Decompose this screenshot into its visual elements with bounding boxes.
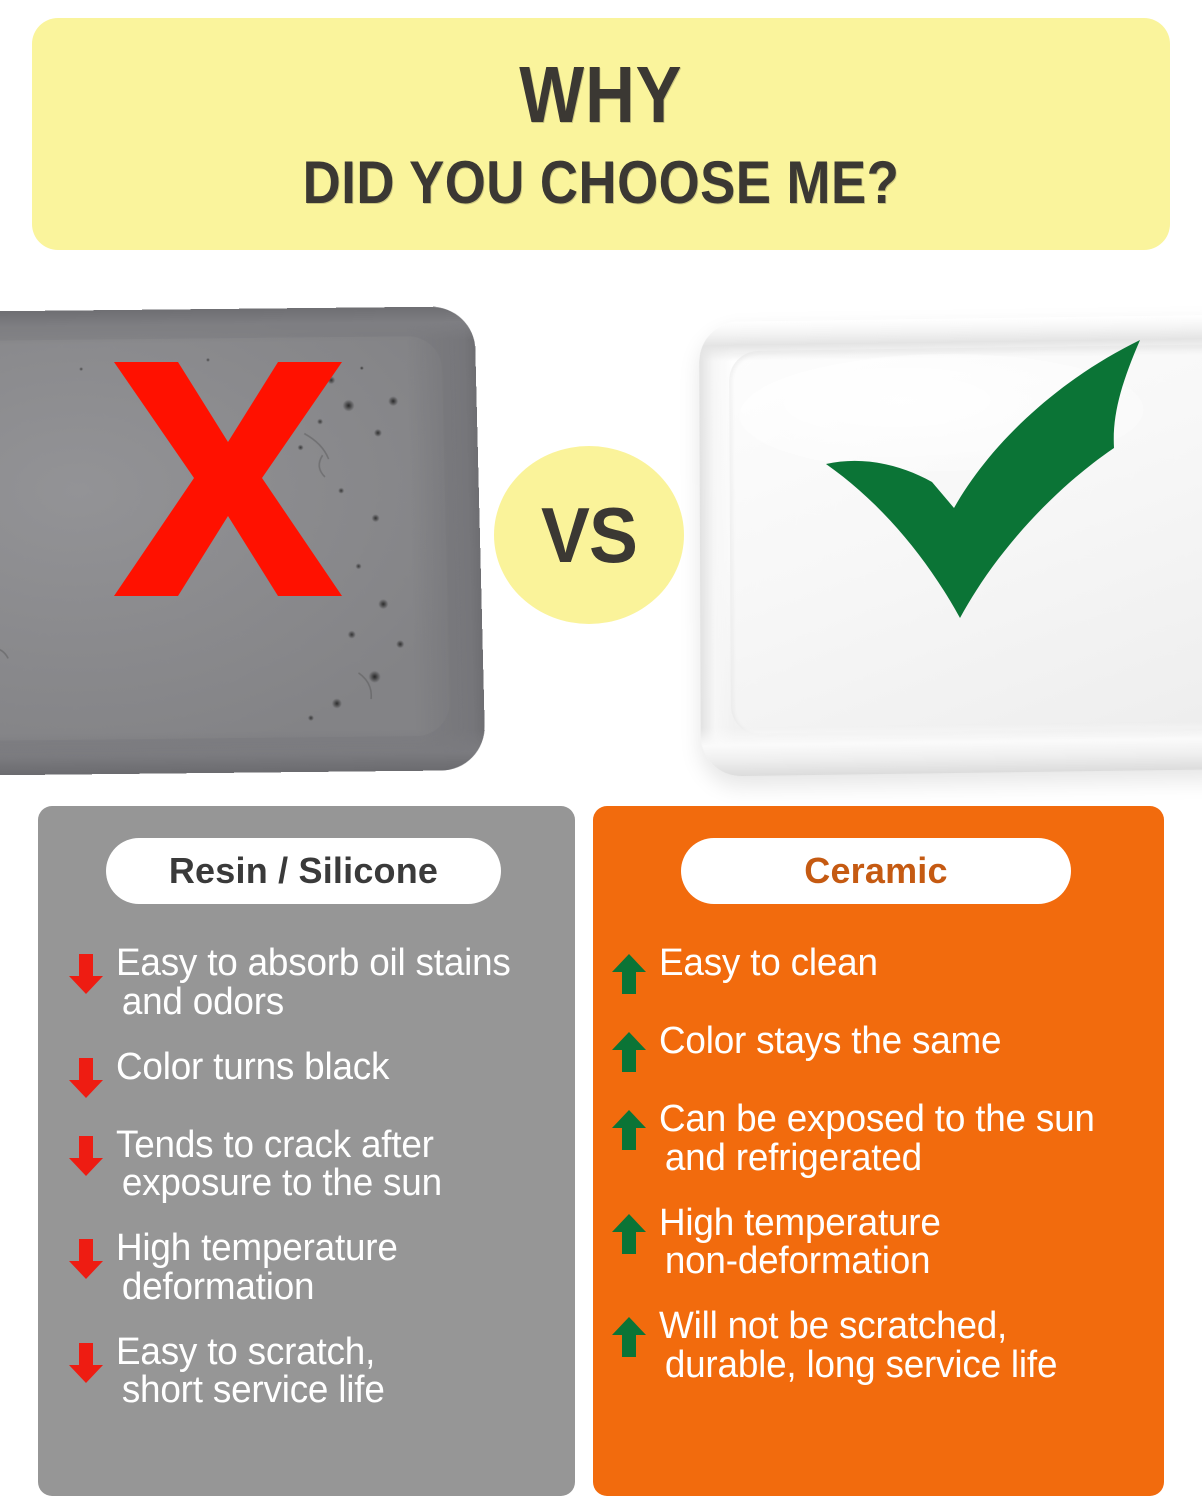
panel-title-right: Ceramic (804, 850, 947, 892)
feature-line-1: Color turns black (116, 1046, 389, 1088)
list-item: Can be exposed to the sun and refrigerat… (593, 1100, 1164, 1178)
infographic-page: WHY DID YOU CHOOSE ME? (0, 0, 1202, 1500)
arrow-up-icon (609, 952, 649, 996)
feature-line-1: Easy to absorb oil stains (116, 942, 511, 984)
arrow-up-icon (609, 1212, 649, 1256)
feature-line-1: Can be exposed to the sun (659, 1098, 1095, 1140)
feature-text: High temperature non-deformation (659, 1204, 941, 1282)
feature-text: Easy to scratch, short service life (116, 1333, 385, 1411)
feature-list-right: Easy to clean Color stays the same (593, 944, 1164, 1411)
feature-line-2: non-deformation (665, 1242, 941, 1281)
panel-resin-silicone: Resin / Silicone Easy to absorb oil stai… (38, 806, 575, 1496)
list-item: Easy to clean (593, 944, 1164, 996)
list-item: Color stays the same (593, 1022, 1164, 1074)
feature-list-left: Easy to absorb oil stains and odors Colo… (38, 944, 575, 1436)
feature-line-1: Easy to scratch, (116, 1331, 375, 1373)
green-check-mark (822, 336, 1202, 636)
panel-ceramic: Ceramic Easy to clean Color st (593, 806, 1164, 1496)
arrow-up-icon (609, 1030, 649, 1074)
feature-text: Easy to absorb oil stains and odors (116, 944, 511, 1022)
arrow-down-icon (66, 1341, 106, 1385)
arrow-up-icon (609, 1315, 649, 1359)
feature-line-2: deformation (122, 1268, 398, 1307)
banner-title-secondary: DID YOU CHOOSE ME? (303, 151, 900, 214)
list-item: Easy to absorb oil stains and odors (38, 944, 575, 1022)
feature-line-1: Easy to clean (659, 942, 878, 984)
vs-badge: VS (494, 446, 684, 624)
feature-text: Tends to crack after exposure to the sun (116, 1126, 442, 1204)
feature-line-1: Will not be scratched, (659, 1305, 1007, 1347)
vs-label: VS (541, 490, 637, 581)
arrow-up-icon (609, 1108, 649, 1152)
list-item: High temperature non-deformation (593, 1204, 1164, 1282)
feature-line-2: durable, long service life (665, 1346, 1057, 1385)
list-item: Will not be scratched, durable, long ser… (593, 1307, 1164, 1385)
panel-title-left: Resin / Silicone (169, 850, 438, 892)
header-banner: WHY DID YOU CHOOSE ME? (32, 18, 1170, 250)
arrow-down-icon (66, 952, 106, 996)
list-item: High temperature deformation (38, 1229, 575, 1307)
feature-line-2: and refrigerated (665, 1139, 1095, 1178)
banner-title-primary: WHY (519, 54, 682, 136)
red-x-mark (108, 356, 348, 602)
hero-product-comparison: VS (0, 258, 1202, 798)
feature-text: Will not be scratched, durable, long ser… (659, 1307, 1057, 1385)
arrow-down-icon (66, 1237, 106, 1281)
feature-text: Color turns black (116, 1048, 389, 1087)
list-item: Color turns black (38, 1048, 575, 1100)
feature-line-1: High temperature (116, 1227, 398, 1269)
feature-text: Color stays the same (659, 1022, 1001, 1061)
arrow-down-icon (66, 1134, 106, 1178)
feature-line-2: and odors (122, 983, 511, 1022)
feature-text: High temperature deformation (116, 1229, 398, 1307)
feature-text: Can be exposed to the sun and refrigerat… (659, 1100, 1095, 1178)
comparison-panels: Resin / Silicone Easy to absorb oil stai… (0, 806, 1202, 1500)
panel-title-pill-left: Resin / Silicone (106, 838, 501, 904)
feature-line-1: High temperature (659, 1202, 941, 1244)
list-item: Easy to scratch, short service life (38, 1333, 575, 1411)
feature-line-1: Tends to crack after (116, 1124, 434, 1166)
list-item: Tends to crack after exposure to the sun (38, 1126, 575, 1204)
feature-text: Easy to clean (659, 944, 878, 983)
feature-line-2: exposure to the sun (122, 1164, 442, 1203)
panel-title-pill-right: Ceramic (681, 838, 1071, 904)
arrow-down-icon (66, 1056, 106, 1100)
feature-line-1: Color stays the same (659, 1020, 1001, 1062)
feature-line-2: short service life (122, 1371, 385, 1410)
